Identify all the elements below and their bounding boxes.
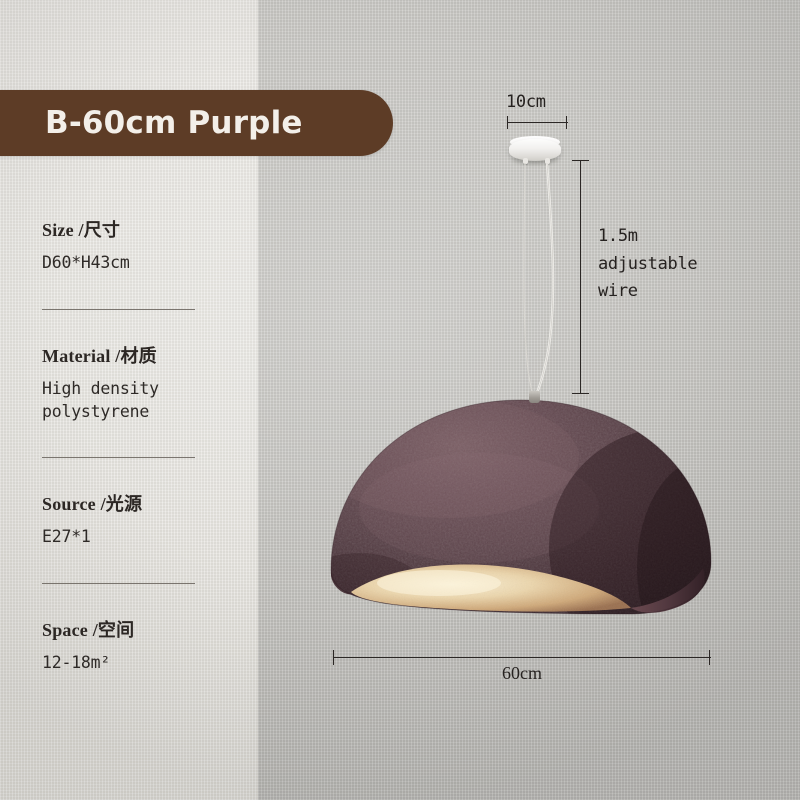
dimension-bar-wire-length — [580, 160, 581, 394]
dimension-cap-wire-top — [572, 160, 589, 161]
dimension-bar-shade-width — [333, 657, 711, 658]
lamp-shade — [329, 398, 713, 616]
wire-thick — [535, 163, 553, 397]
dimension-label-wire-length: 1.5m adjustable wire — [598, 223, 697, 306]
dimension-label-canopy-width: 10cm — [506, 92, 546, 112]
dimension-cap-canopy-right — [566, 116, 567, 129]
wire-thin — [524, 163, 534, 397]
dimension-cap-wire-bottom — [572, 393, 589, 394]
dimension-label-shade-width: 60cm — [333, 663, 711, 684]
dimension-cap-canopy-left — [507, 116, 508, 129]
product-image-canvas: B-60cm Purple Size /尺寸 D60*H43cm Materia… — [0, 0, 800, 800]
dimension-bar-canopy-width — [507, 122, 568, 123]
shade-wire-connector — [529, 391, 540, 403]
